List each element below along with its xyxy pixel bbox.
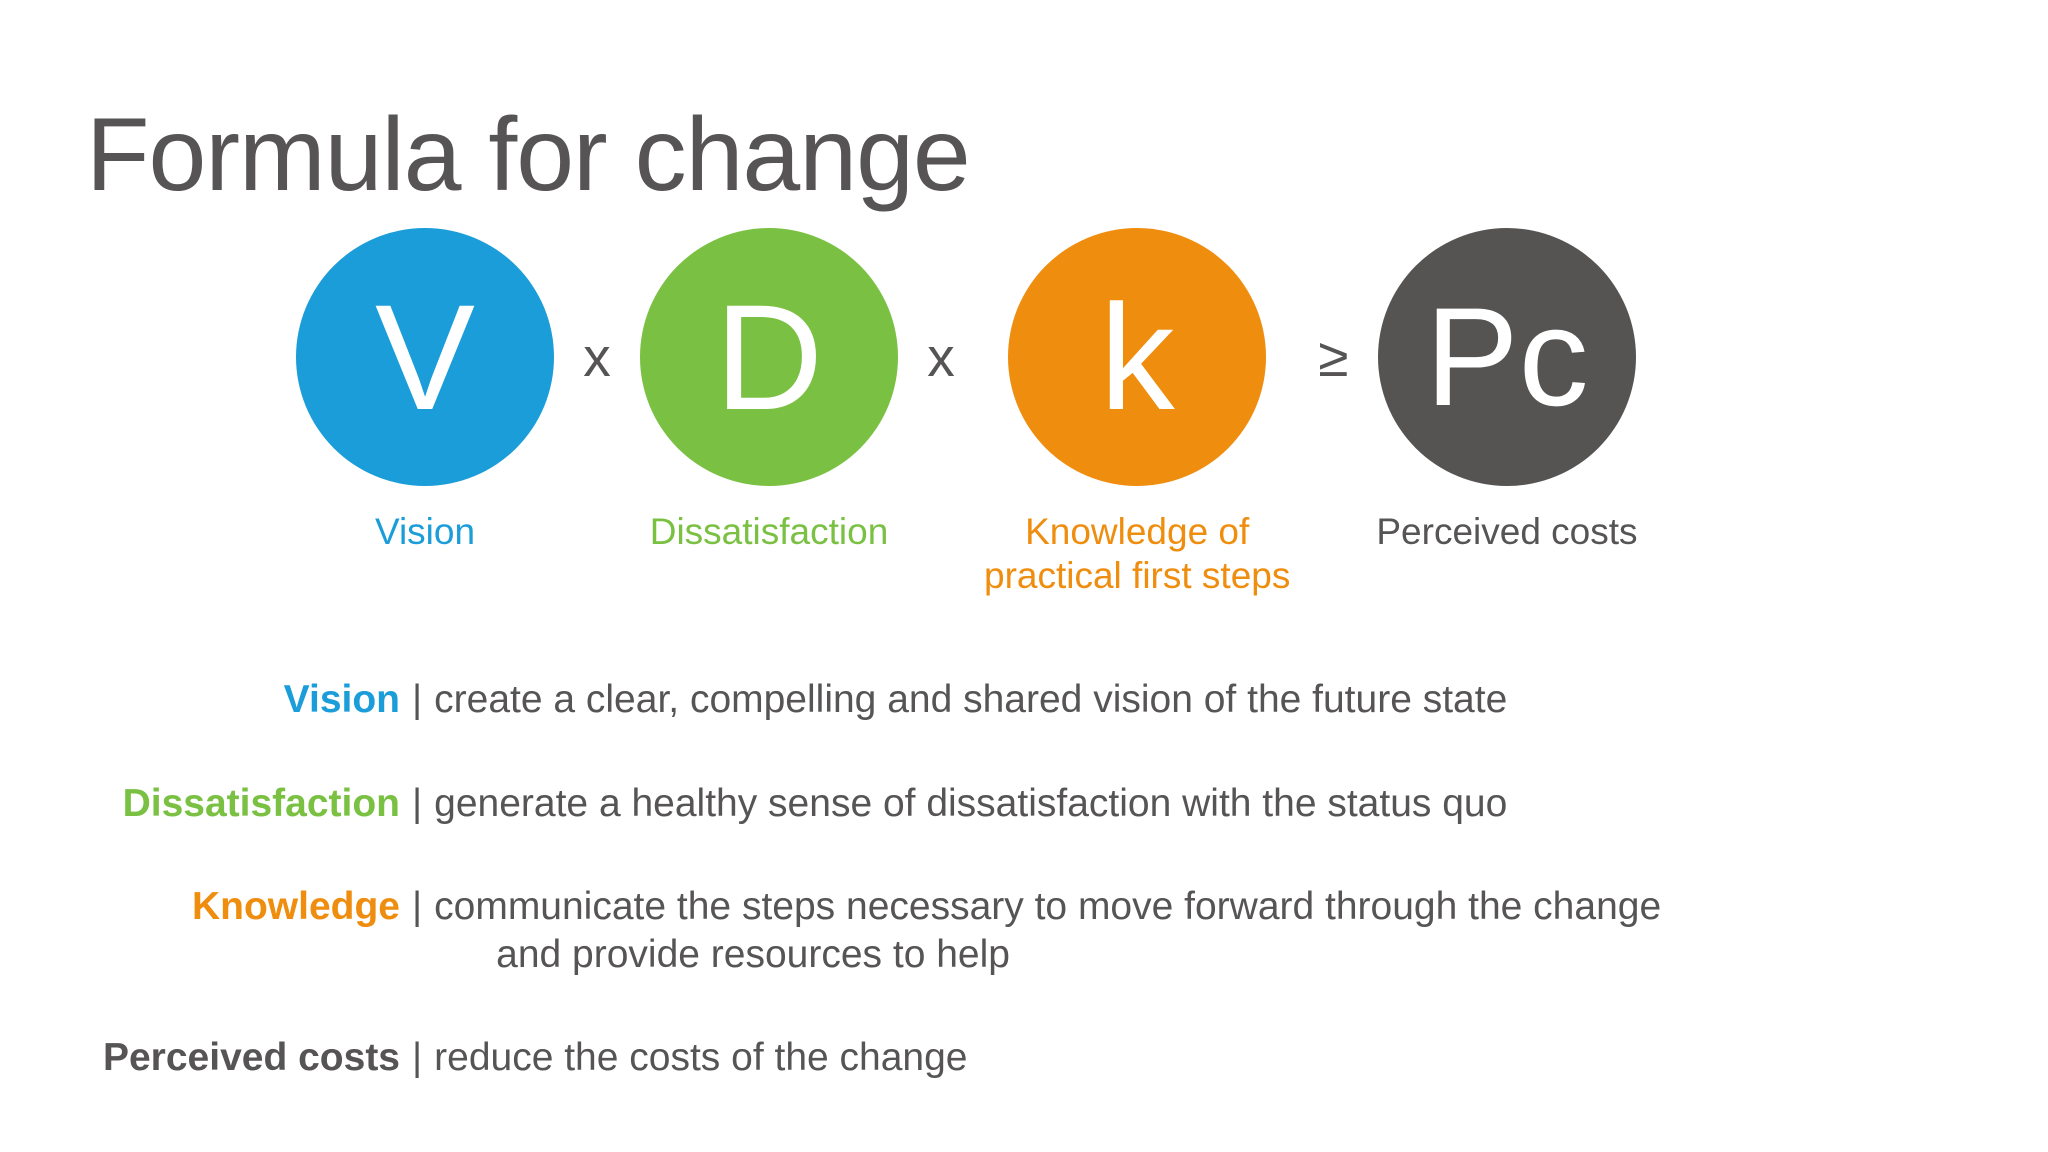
bullet-body-knowledge: communicate the steps necessary to move … <box>434 883 1794 978</box>
bullet-separator: | <box>400 782 434 826</box>
bullet-body-knowledge-line1: communicate the steps necessary to move … <box>434 885 1661 928</box>
list-item: Knowledge | communicate the steps necess… <box>0 883 2048 978</box>
bullet-separator: | <box>400 678 434 722</box>
bullet-label-vision: Vision <box>0 678 400 722</box>
bullet-body-dissatisfaction: generate a healthy sense of dissatisfact… <box>434 780 1794 828</box>
list-item: Dissatisfaction | generate a healthy sen… <box>0 780 2048 828</box>
list-item: Vision | create a clear, compelling and … <box>0 676 2048 724</box>
operator-greater-equal: ≥ <box>1290 228 1376 486</box>
operator-multiply-1: x <box>554 228 640 486</box>
formula-term-dissatisfaction: D Dissatisfaction <box>640 228 898 554</box>
page-title: Formula for change <box>86 98 970 212</box>
bubble-label-vision: Vision <box>375 510 475 554</box>
operator-multiply-2: x <box>898 228 984 486</box>
bullet-label-perceived-costs: Perceived costs <box>0 1036 400 1080</box>
formula-term-perceived-costs: Pc Perceived costs <box>1376 228 1637 554</box>
bubble-knowledge: k <box>1008 228 1266 486</box>
bullet-separator: | <box>400 1036 434 1080</box>
bullet-separator: | <box>400 885 434 929</box>
bubble-label-knowledge: Knowledge of practical first steps <box>984 510 1290 597</box>
bubble-label-perceived-costs: Perceived costs <box>1376 510 1637 554</box>
bubble-vision: V <box>296 228 554 486</box>
bubble-label-dissatisfaction: Dissatisfaction <box>650 510 889 554</box>
formula-diagram: V Vision x D Dissatisfaction x k Knowled… <box>296 228 1638 597</box>
definition-list: Vision | create a clear, compelling and … <box>0 676 2048 1138</box>
bubble-dissatisfaction: D <box>640 228 898 486</box>
formula-term-knowledge: k Knowledge of practical first steps <box>984 228 1290 597</box>
formula-term-vision: V Vision <box>296 228 554 554</box>
bubble-perceived-costs: Pc <box>1378 228 1636 486</box>
list-item: Perceived costs | reduce the costs of th… <box>0 1034 2048 1082</box>
bullet-body-vision: create a clear, compelling and shared vi… <box>434 676 1794 724</box>
bullet-body-knowledge-line2: and provide resources to help <box>434 931 1794 979</box>
bullet-body-perceived-costs: reduce the costs of the change <box>434 1034 1794 1082</box>
bullet-label-dissatisfaction: Dissatisfaction <box>0 782 400 826</box>
bullet-label-knowledge: Knowledge <box>0 885 400 929</box>
